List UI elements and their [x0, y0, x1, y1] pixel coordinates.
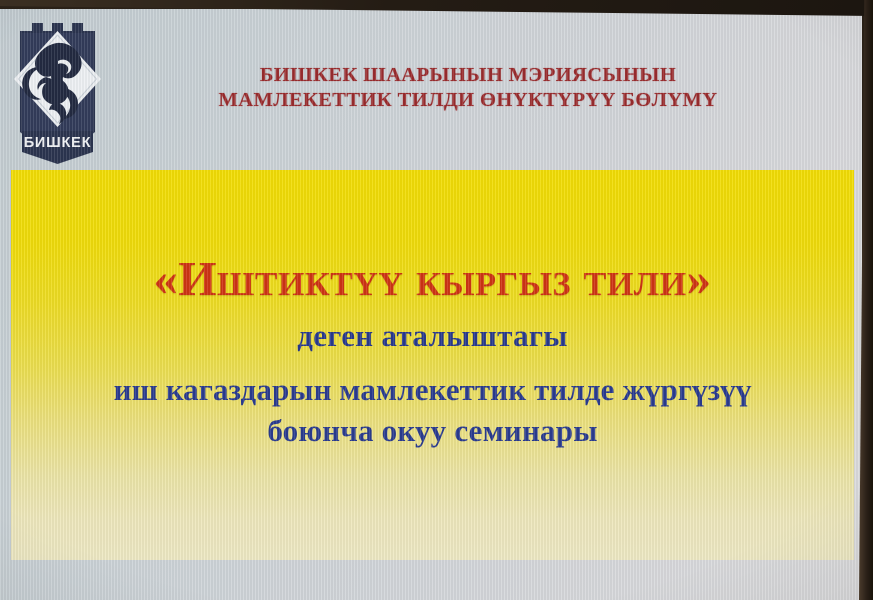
photograph-of-projected-slide: БИШКЕК БИШКЕК ШААРЫНЫН МЭРИЯСЫНЫН МАМЛЕК…	[0, 0, 873, 600]
organization-line-1: БИШКЕК ШААРЫНЫН МЭРИЯСЫНЫН	[118, 63, 818, 88]
organization-header: БИШКЕК ШААРЫНЫН МЭРИЯСЫНЫН МАМЛЕКЕТТИК Т…	[118, 63, 818, 113]
organization-line-2: МАМЛЕКЕТТИК ТИЛДИ ӨНҮКТҮРҮҮ БӨЛҮМҮ	[118, 88, 818, 113]
slide-title: «Иштиктүү кыргыз тили»	[153, 254, 711, 303]
projection-screen: БИШКЕК БИШКЕК ШААРЫНЫН МЭРИЯСЫНЫН МАМЛЕК…	[0, 9, 862, 600]
slide-content-panel: «Иштиктүү кыргыз тили» деген аталыштагы …	[11, 170, 854, 560]
slide-subtitle-line-1: деген аталыштагы	[297, 320, 568, 351]
slide-subtitle-line-3: боюнча окуу семинары	[267, 411, 597, 452]
slide-subtitle-line-2: иш кагаздарын мамлекеттик тилде жүргүзүү	[114, 370, 752, 411]
bishkek-city-emblem-logo: БИШКЕК	[8, 17, 107, 165]
svg-text:БИШКЕК: БИШКЕК	[24, 135, 92, 151]
